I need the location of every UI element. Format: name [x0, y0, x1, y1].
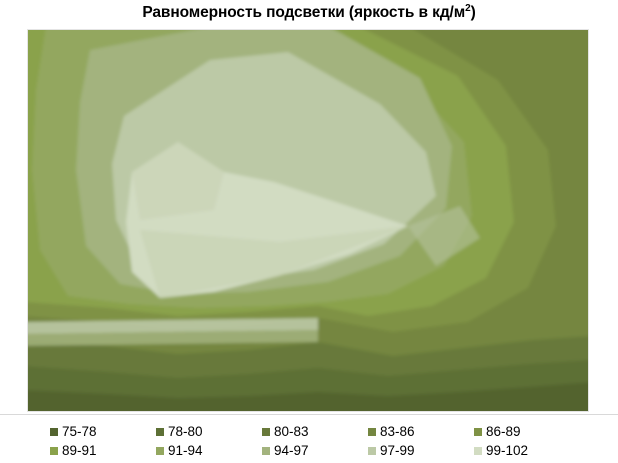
legend-item-78-80[interactable]: 78-80: [150, 424, 256, 440]
legend-item-91-94[interactable]: 91-94: [150, 443, 256, 459]
legend-swatch-icon: [368, 428, 376, 436]
legend-label: 83-86: [380, 424, 415, 440]
legend-row-top: 75-78 78-80 80-83 83-86 86-89: [0, 422, 618, 441]
chart-title-paren: ): [471, 4, 476, 21]
legend-label: 89-91: [62, 443, 97, 459]
legend-label: 78-80: [168, 424, 203, 440]
legend-item-80-83[interactable]: 80-83: [256, 424, 362, 440]
legend-label: 99-102: [486, 443, 528, 459]
chart-title-text: Равномерность подсветки (яркость в кд/м: [142, 4, 465, 21]
legend-item-75-78[interactable]: 75-78: [44, 424, 150, 440]
legend-swatch-icon: [50, 428, 58, 436]
legend-item-99-102[interactable]: 99-102: [468, 443, 574, 459]
contour-surface: [28, 30, 588, 411]
contour-chart: Равномерность подсветки (яркость в кд/м2…: [0, 0, 618, 463]
legend-item-94-97[interactable]: 94-97: [256, 443, 362, 459]
legend-item-83-86[interactable]: 83-86: [362, 424, 468, 440]
legend-label: 91-94: [168, 443, 203, 459]
legend-swatch-icon: [474, 428, 482, 436]
legend-swatch-icon: [262, 428, 270, 436]
legend-label: 75-78: [62, 424, 97, 440]
chart-title: Равномерность подсветки (яркость в кд/м2…: [0, 3, 618, 23]
legend: 75-78 78-80 80-83 83-86 86-89 89-91: [0, 414, 618, 463]
legend-swatch-icon: [368, 447, 376, 455]
legend-swatch-icon: [156, 447, 164, 455]
legend-item-97-99[interactable]: 97-99: [362, 443, 468, 459]
legend-swatch-icon: [474, 447, 482, 455]
legend-row-bottom: 89-91 91-94 94-97 97-99 99-102: [0, 441, 618, 460]
contour-bands: [28, 30, 588, 411]
plot-area: [28, 30, 588, 411]
legend-label: 97-99: [380, 443, 415, 459]
legend-swatch-icon: [156, 428, 164, 436]
legend-label: 80-83: [274, 424, 309, 440]
legend-item-89-91[interactable]: 89-91: [44, 443, 150, 459]
legend-label: 94-97: [274, 443, 309, 459]
legend-swatch-icon: [262, 447, 270, 455]
legend-label: 86-89: [486, 424, 521, 440]
legend-item-86-89[interactable]: 86-89: [468, 424, 574, 440]
legend-swatch-icon: [50, 447, 58, 455]
